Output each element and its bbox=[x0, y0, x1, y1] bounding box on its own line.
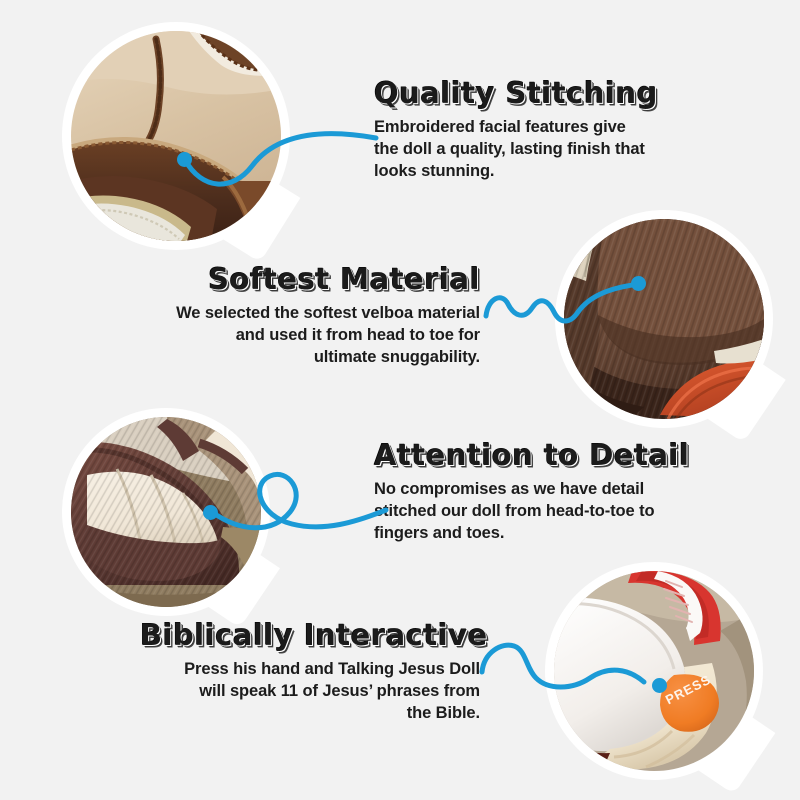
anchor-dot-quality-stitching bbox=[177, 152, 192, 167]
connector-softest-material bbox=[482, 258, 647, 338]
feature-body-softest-material: We selected the softest velboa material … bbox=[130, 303, 480, 369]
feature-heading-softest-material: Softest Material bbox=[130, 264, 480, 294]
anchor-dot-attention-to-detail bbox=[203, 505, 218, 520]
feature-body-quality-stitching: Embroidered facial features give the dol… bbox=[374, 117, 674, 183]
connector-attention-to-detail bbox=[206, 438, 391, 548]
feature-text-softest-material: Softest Material We selected the softest… bbox=[130, 264, 480, 369]
feature-heading-quality-stitching: Quality Stitching bbox=[374, 78, 674, 108]
feature-text-attention-to-detail: Attention to Detail No compromises as we… bbox=[374, 440, 684, 545]
feature-body-attention-to-detail: No compromises as we have detail stitche… bbox=[374, 479, 684, 545]
feature-heading-biblically-interactive: Biblically Interactive bbox=[140, 620, 480, 650]
feature-heading-attention-to-detail: Attention to Detail bbox=[374, 440, 684, 470]
feature-text-biblically-interactive: Biblically Interactive Press his hand an… bbox=[140, 620, 480, 725]
anchor-dot-softest-material bbox=[631, 276, 646, 291]
infographic-canvas: Quality Stitching Embroidered facial fea… bbox=[0, 0, 800, 800]
press-label-text: PRESS bbox=[663, 671, 714, 707]
feature-text-quality-stitching: Quality Stitching Embroidered facial fea… bbox=[374, 78, 674, 183]
anchor-dot-biblically-interactive bbox=[652, 678, 667, 693]
connector-quality-stitching bbox=[180, 120, 380, 200]
connector-biblically-interactive bbox=[478, 620, 663, 700]
feature-body-biblically-interactive: Press his hand and Talking Jesus Doll wi… bbox=[140, 659, 480, 725]
